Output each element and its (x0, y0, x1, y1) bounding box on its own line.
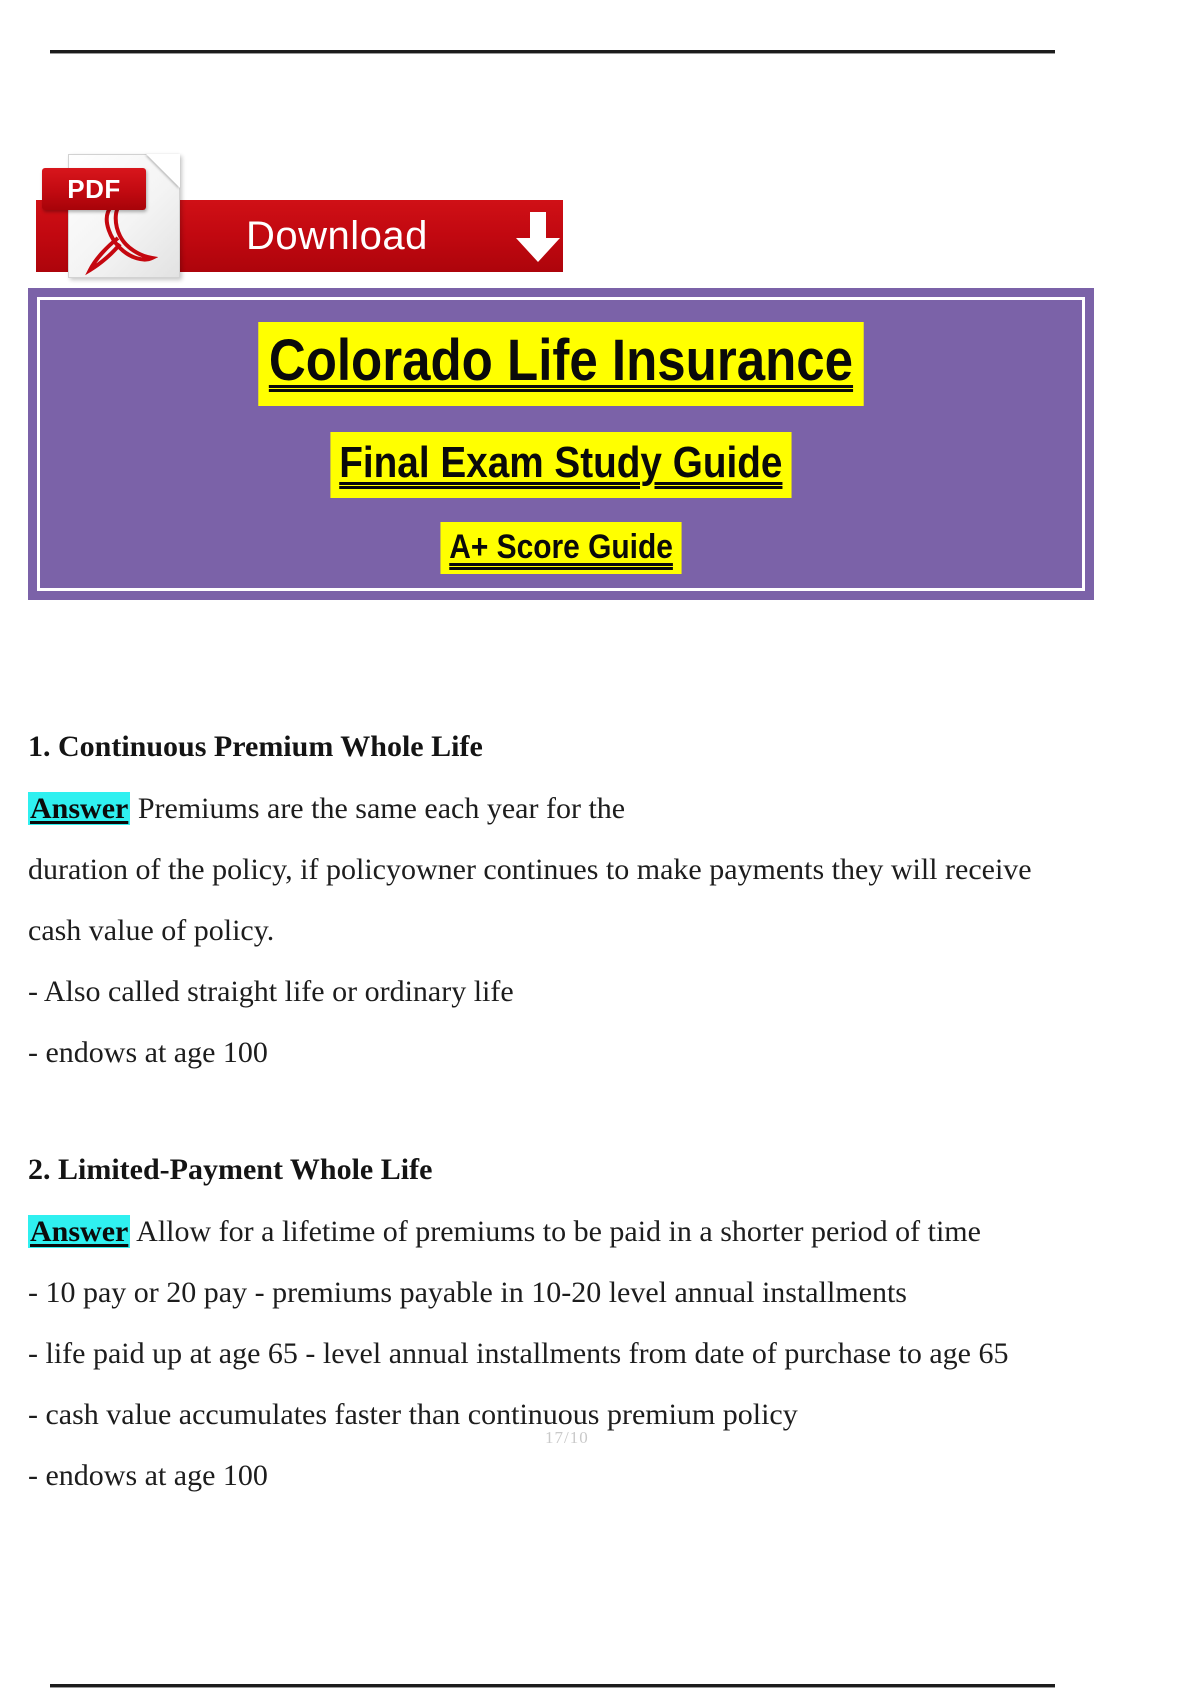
question-2-line-4: - endows at age 100 (28, 1445, 1200, 1506)
answer-line-1: Answer Premiums are the same each year f… (28, 778, 1200, 839)
question-1-line-1: duration of the policy, if policyowner c… (28, 839, 1200, 900)
study-guide-content: 1. Continuous Premium Whole Life Answer … (28, 716, 1200, 1506)
download-button[interactable]: Download PDF (36, 148, 566, 276)
answer-badge: Answer (28, 1215, 130, 1248)
answer-badge: Answer (28, 792, 130, 825)
question-2-line-1: - 10 pay or 20 pay - premiums payable in… (28, 1262, 1200, 1323)
pdf-badge: PDF (42, 168, 146, 210)
document-page: Download PDF Colorado Life Insurance Fin… (0, 0, 1200, 1700)
acrobat-swirl-icon (82, 202, 158, 276)
question-block-2: 2. Limited-Payment Whole Life Answer All… (28, 1139, 1200, 1506)
banner-title: Colorado Life Insurance (258, 322, 863, 406)
banner-score-label: A+ Score Guide (440, 522, 681, 574)
title-banner: Colorado Life Insurance Final Exam Study… (28, 288, 1094, 600)
answer-text-2: Allow for a lifetime of premiums to be p… (130, 1215, 981, 1248)
block-spacer (28, 1083, 1200, 1139)
question-1-line-3: - Also called straight life or ordinary … (28, 961, 1200, 1022)
bottom-horizontal-rule (50, 1684, 1055, 1687)
pdf-file-icon: PDF (68, 154, 180, 278)
page-watermark: 17/10 (545, 1428, 589, 1448)
question-1-line-2: cash value of policy. (28, 900, 1200, 961)
question-2-line-3: - cash value accumulates faster than con… (28, 1384, 1200, 1445)
question-2-line-2: - life paid up at age 65 - level annual … (28, 1323, 1200, 1384)
title-banner-inner: Colorado Life Insurance Final Exam Study… (37, 297, 1085, 591)
question-block-1: 1. Continuous Premium Whole Life Answer … (28, 716, 1200, 1083)
answer-text-1: Premiums are the same each year for the (130, 792, 625, 825)
answer-line-2: Answer Allow for a lifetime of premiums … (28, 1201, 1200, 1262)
down-arrow-icon (514, 212, 562, 264)
banner-subtitle: Final Exam Study Guide (331, 432, 792, 498)
download-label: Download (246, 206, 428, 266)
pdf-badge-label: PDF (42, 168, 146, 210)
question-heading-2: 2. Limited-Payment Whole Life (28, 1139, 1200, 1201)
question-1-line-4: - endows at age 100 (28, 1022, 1200, 1083)
question-heading-1: 1. Continuous Premium Whole Life (28, 716, 1200, 778)
top-horizontal-rule (50, 50, 1055, 53)
